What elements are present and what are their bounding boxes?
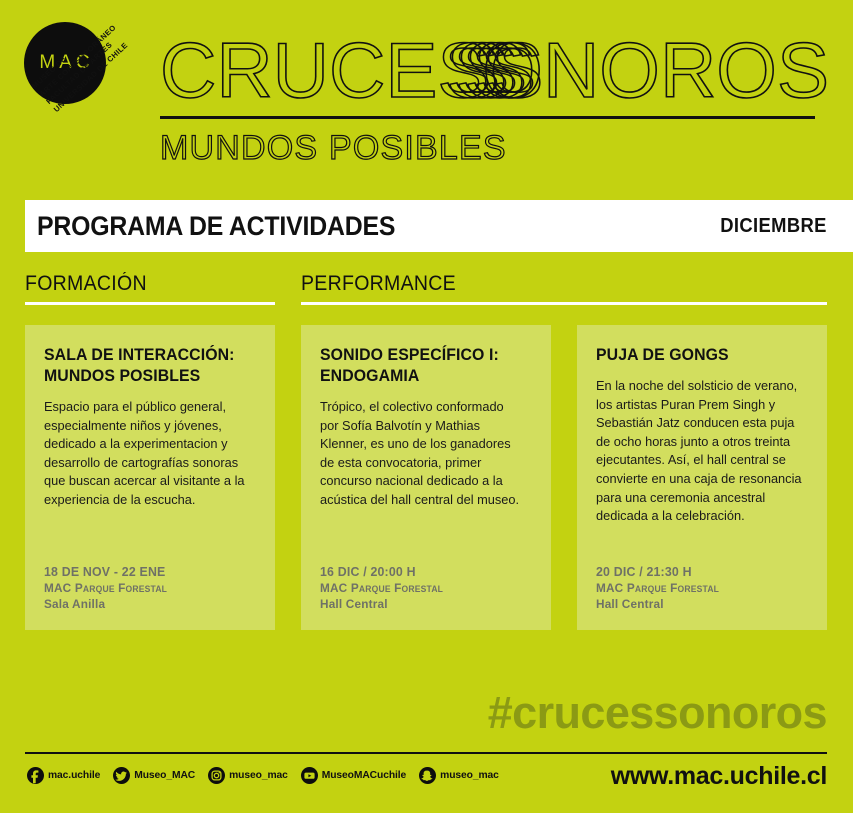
card-description: Espacio para el público general, especia… (44, 398, 250, 510)
section-underline-formacion (25, 302, 275, 305)
section-header-row: FORMACIÓN PERFORMANCE (25, 272, 827, 310)
social-link-twitter[interactable]: Museo_MAC (113, 767, 195, 784)
activity-card[interactable]: SALA DE INTERACCIÓN: MUNDOS POSIBLES Esp… (25, 325, 275, 630)
website-url[interactable]: www.mac.uchile.cl (611, 762, 827, 791)
card-title: PUJA DE GONGS (596, 345, 800, 366)
social-link-facebook[interactable]: mac.uchile (27, 767, 100, 784)
card-venue: MAC Parque Forestal (44, 580, 245, 596)
section-header-performance: PERFORMANCE (301, 272, 827, 305)
card-room: Hall Central (596, 596, 797, 612)
program-bar: PROGRAMA DE ACTIVIDADES DICIEMBRE (25, 200, 853, 252)
social-handle: museo_mac (440, 770, 499, 781)
social-handle: museo_mac (229, 770, 288, 781)
poster-canvas: MAC MUSEO DE ARTE CONTEMPORÁNEO FACULTAD… (0, 0, 853, 813)
section-underline-performance (301, 302, 827, 305)
section-headers: FORMACIÓN PERFORMANCE (25, 272, 827, 310)
card-date: 20 DIC / 21:30 H (596, 563, 797, 580)
section-label-formacion: FORMACIÓN (25, 272, 258, 296)
section-label-performance: PERFORMANCE (301, 272, 790, 296)
title-blurred-s-stack: S S S S S S S (437, 31, 482, 109)
instagram-icon (208, 767, 225, 784)
social-handle: MuseoMACuchile (322, 770, 406, 781)
mac-logo[interactable]: MAC MUSEO DE ARTE CONTEMPORÁNEO FACULTAD… (24, 22, 174, 192)
campaign-hashtag: #crucessonoros (488, 688, 827, 738)
poster-header: MAC MUSEO DE ARTE CONTEMPORÁNEO FACULTAD… (0, 0, 853, 200)
social-handle: mac.uchile (48, 770, 100, 781)
facebook-icon (27, 767, 44, 784)
card-meta: 16 DIC / 20:00 H MAC Parque Forestal Hal… (320, 563, 532, 612)
card-title: SONIDO ESPECÍFICO I: ENDOGAMIA (320, 345, 524, 387)
card-venue: MAC Parque Forestal (320, 580, 521, 596)
card-date: 18 DE NOV - 22 ENE (44, 563, 245, 580)
card-room: Hall Central (320, 596, 521, 612)
festival-title: CRUCE S S S S S S S ONOROS (160, 30, 829, 110)
footer-divider (25, 752, 827, 754)
social-link-youtube[interactable]: MuseoMACuchile (301, 767, 406, 784)
card-title: SALA DE INTERACCIÓN: MUNDOS POSIBLES (44, 345, 248, 387)
card-description: Trópico, el colectivo conformado por Sof… (320, 398, 526, 510)
social-handle: Museo_MAC (134, 770, 195, 781)
social-link-instagram[interactable]: museo_mac (208, 767, 288, 784)
card-room: Sala Anilla (44, 596, 245, 612)
title-s-ghost-7: S (491, 31, 544, 109)
activity-card[interactable]: PUJA DE GONGS En la noche del solsticio … (577, 325, 827, 630)
youtube-icon (301, 767, 318, 784)
program-month: DICIEMBRE (720, 215, 827, 238)
section-header-formacion: FORMACIÓN (25, 272, 275, 305)
card-date: 16 DIC / 20:00 H (320, 563, 521, 580)
social-links: mac.uchile Museo_MAC museo_mac (27, 767, 499, 784)
title-lead: CRUCE (160, 30, 437, 110)
snapchat-icon (419, 767, 436, 784)
festival-title-block: CRUCE S S S S S S S ONOROS MUNDOS POSIBL… (160, 30, 829, 167)
card-meta: 18 DE NOV - 22 ENE MAC Parque Forestal S… (44, 563, 256, 612)
title-divider (160, 116, 815, 119)
festival-subtitle: MUNDOS POSIBLES (160, 129, 829, 167)
card-description: En la noche del solsticio de verano, los… (596, 377, 802, 526)
card-meta: 20 DIC / 21:30 H MAC Parque Forestal Hal… (596, 563, 808, 612)
twitter-icon (113, 767, 130, 784)
program-title: PROGRAMA DE ACTIVIDADES (37, 211, 395, 242)
social-link-snapchat[interactable]: museo_mac (419, 767, 499, 784)
activity-card[interactable]: SONIDO ESPECÍFICO I: ENDOGAMIA Trópico, … (301, 325, 551, 630)
card-venue: MAC Parque Forestal (596, 580, 797, 596)
